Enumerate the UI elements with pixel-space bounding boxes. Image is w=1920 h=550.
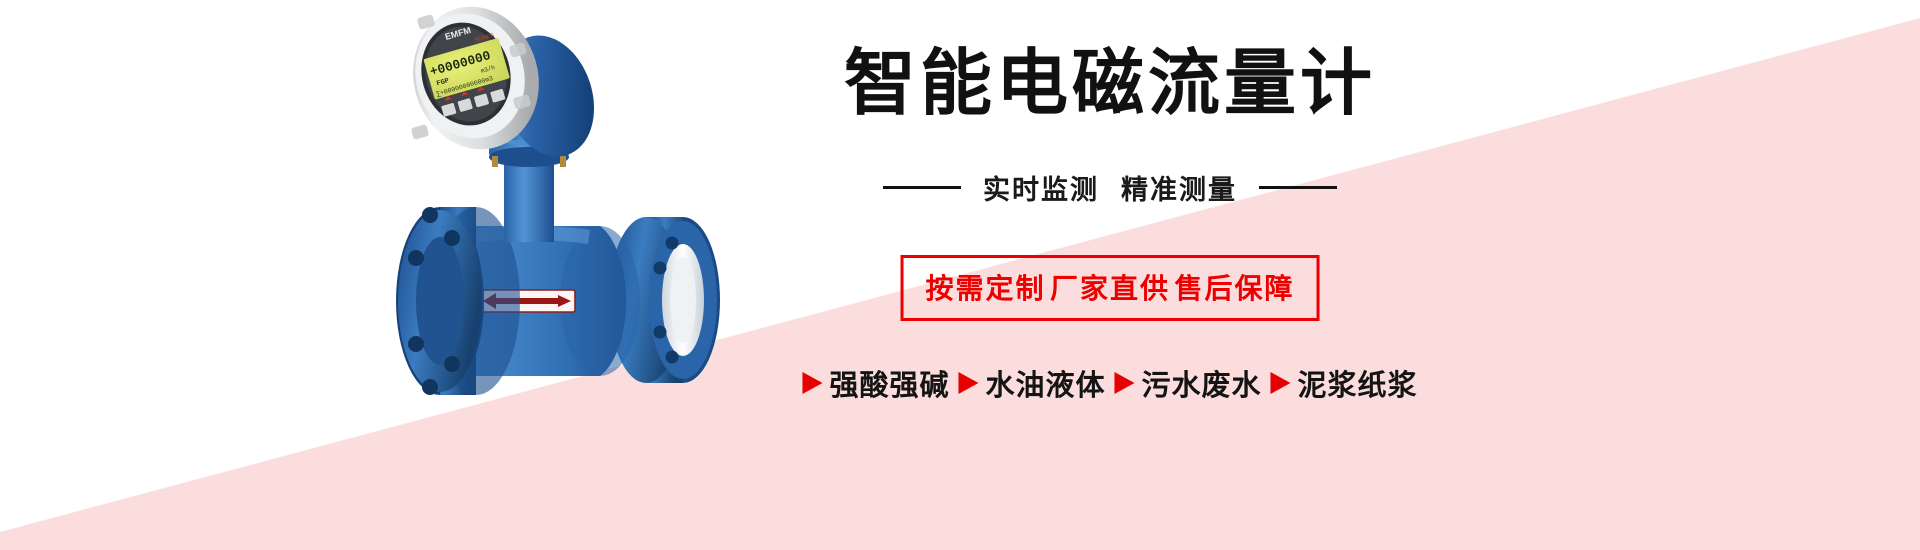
feature-list: 强酸强碱 水油液体 污水废水 泥浆纸浆	[802, 362, 1417, 404]
banner-copy: 智能电磁流量计 实时监测 精准测量 按需定制 厂家直供 售后保障 强酸强碱 水油…	[760, 0, 1460, 550]
feature-item: 水油液体	[958, 362, 1105, 404]
feature-label: 泥浆纸浆	[1298, 362, 1418, 404]
subtitle-right: 精准测量	[1121, 168, 1237, 207]
subtitle-left: 实时监测	[983, 168, 1099, 207]
promo-item-2: 厂家直供	[1050, 273, 1170, 304]
triangle-right-icon	[958, 372, 978, 394]
promotional-banner: EMFM SERIES +0000000 FGP m3/h ∑+00000000…	[0, 0, 1920, 550]
rule-left	[883, 186, 961, 189]
transmitter-head: EMFM SERIES +0000000 FGP m3/h ∑+00000000…	[397, 0, 609, 169]
flange-left	[396, 207, 520, 395]
feature-item: 强酸强碱	[802, 362, 949, 404]
triangle-right-icon	[1271, 372, 1291, 394]
page-title: 智能电磁流量计	[844, 48, 1376, 120]
promo-item-3: 售后保障	[1174, 273, 1294, 304]
triangle-right-icon	[802, 372, 822, 394]
feature-item: 泥浆纸浆	[1271, 362, 1418, 404]
subtitle-row: 实时监测 精准测量	[883, 168, 1337, 207]
promo-item-1: 按需定制	[926, 273, 1046, 304]
feature-label: 水油液体	[985, 362, 1105, 404]
rule-right	[1259, 186, 1337, 189]
triangle-right-icon	[1115, 372, 1135, 394]
feature-item: 污水废水	[1115, 362, 1262, 404]
promo-badge: 按需定制 厂家直供 售后保障	[901, 255, 1320, 321]
feature-label: 强酸强碱	[829, 362, 949, 404]
product-image-flowmeter: EMFM SERIES +0000000 FGP m3/h ∑+00000000…	[300, 0, 780, 470]
feature-label: 污水废水	[1142, 362, 1262, 404]
